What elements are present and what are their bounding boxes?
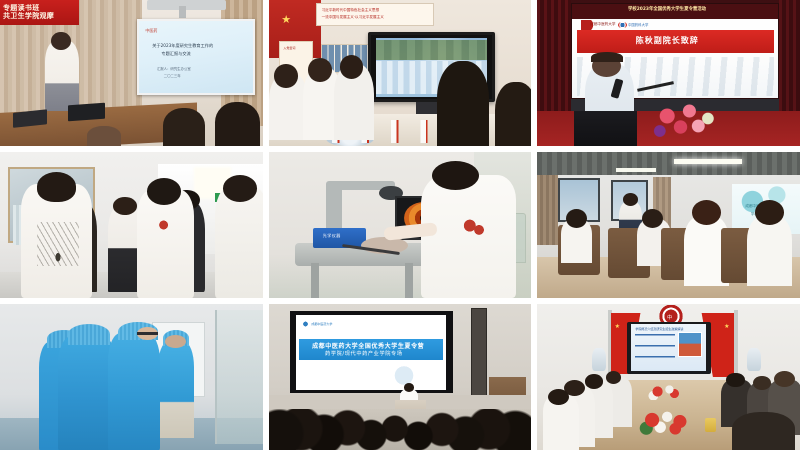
foreground-person-2 bbox=[495, 82, 532, 146]
logo-left-text: 成都中医药大学 bbox=[590, 22, 615, 27]
wall-text-board: 习近平新时代中国特色社会主义思想 一流中国与发展主义·以习近平发展主义 bbox=[316, 3, 434, 26]
led-header-text: 学校2023年全国优秀大学生夏令营活动 bbox=[628, 6, 706, 12]
emblem-text: 中 bbox=[667, 314, 672, 321]
logo-right-text: 中国药科大学 bbox=[628, 22, 648, 27]
floral-arrangement bbox=[645, 96, 719, 146]
operator-head bbox=[432, 161, 479, 190]
left-attendee-1-head bbox=[548, 389, 569, 405]
decorative-vase-left bbox=[592, 348, 605, 371]
gallery-photo-2[interactable]: 习近平新时代中国特色社会主义思想 一流中国与发展主义·以习近平发展主义 入党誓词 bbox=[269, 0, 532, 146]
red-banner: 专题读书班 共卫生学院观摩 bbox=[0, 0, 79, 25]
foreground-attendee bbox=[732, 412, 795, 450]
podium bbox=[574, 111, 637, 146]
slide-logo-text: 成都中医药大学 bbox=[311, 322, 332, 326]
projection-screen: 中医药 关于2023年度研究生教育工作的 专题汇报与交流 汇报人：研究生办公室 … bbox=[137, 19, 255, 95]
slide-title-band: 成都中医药大学全国优秀大学生夏令营 药学院/现代中药产业学院专场 bbox=[299, 339, 443, 360]
student-2-head bbox=[308, 58, 332, 81]
presenter-body bbox=[45, 41, 79, 111]
university-logo-right: 中国药科大学 bbox=[618, 20, 655, 30]
slide-bullet-lines bbox=[635, 334, 674, 365]
gallery-photo-5[interactable]: 光学仪器 bbox=[269, 152, 532, 298]
slide-watermark bbox=[386, 366, 422, 386]
speaker-head bbox=[404, 383, 415, 392]
student-3-head bbox=[340, 55, 364, 78]
operator-shirt-logo bbox=[453, 216, 495, 239]
gallery-photo-4[interactable] bbox=[0, 152, 263, 298]
led-header-bar: 学校2023年全国优秀大学生夏令营活动 bbox=[572, 4, 777, 19]
visitor-2-hair-cap bbox=[68, 324, 110, 344]
photo-lab-instrument-demo: 光学仪器 bbox=[269, 152, 532, 298]
instructor-body bbox=[158, 342, 195, 438]
audience-seating bbox=[269, 409, 532, 450]
visitor-3-glasses bbox=[137, 332, 158, 335]
gallery-photo-9[interactable]: 中 学院概况介绍及研究生招生政策解读 bbox=[537, 304, 800, 450]
slide-line-4: 二〇二三年 bbox=[164, 73, 181, 78]
projector-mount bbox=[147, 0, 226, 10]
photo-lab-corridor-tour bbox=[0, 152, 263, 298]
gallery-photo-7[interactable] bbox=[0, 304, 263, 450]
visitor-2-body bbox=[58, 336, 116, 450]
decorative-vase-right bbox=[747, 348, 760, 371]
presenter-head bbox=[51, 32, 71, 50]
student-center-body bbox=[137, 190, 195, 298]
attendee-4-head bbox=[755, 200, 784, 225]
student-foreground-head bbox=[37, 172, 76, 201]
presentation-display: 学院概况介绍及研究生招生政策解读 bbox=[627, 322, 711, 375]
instructor-face bbox=[165, 335, 186, 348]
glass-partition bbox=[215, 310, 262, 444]
student-foreground-shirt-print bbox=[37, 222, 79, 266]
ceiling-light-1 bbox=[674, 159, 742, 164]
student-right-head bbox=[223, 175, 257, 201]
curtain-left bbox=[537, 175, 558, 245]
right-attendee-1-head bbox=[726, 373, 744, 388]
floral-arrangement-front bbox=[637, 409, 695, 435]
photo-seminar-room-lecture: 成都中医药大学 学科建设与研究生 bbox=[537, 152, 800, 298]
ceiling-grid bbox=[537, 152, 800, 175]
slide-line-2: 专题汇报与交流 bbox=[161, 51, 190, 57]
display-slide: 学院概况介绍及研究生招生政策解读 bbox=[631, 324, 707, 371]
instrument-label: 光学仪器 bbox=[323, 233, 341, 239]
wall-text-line-2: 一流中国与发展主义·以习近平发展主义 bbox=[322, 15, 384, 20]
attendee-1-head bbox=[566, 209, 587, 228]
guide-head bbox=[113, 197, 137, 215]
slide-photo-thumbnail bbox=[678, 332, 702, 358]
audience-foreground-1 bbox=[163, 108, 205, 146]
slide-line-3: 汇报人：研究生办公室 bbox=[157, 66, 191, 71]
slide-line-1: 成都中医药大学全国优秀大学生夏令营 bbox=[312, 341, 424, 350]
photo-opening-address: 学校2023年全国优秀大学生夏令营活动 成都中医药大学 中国药科大学 陈秋副院长… bbox=[537, 0, 800, 146]
right-attendee-3-head bbox=[774, 371, 795, 387]
student-right-body bbox=[215, 187, 262, 298]
ceiling-light-2 bbox=[616, 168, 655, 172]
bench-leg-left bbox=[311, 263, 319, 298]
slide-line-2: 药学院/现代中药产业学院专场 bbox=[325, 350, 403, 357]
audience-foreground-2 bbox=[215, 102, 260, 146]
student-1-head bbox=[274, 64, 298, 87]
photo-seminar-presentation: 专题读书班 共卫生学院观摩 中医药 关于2023年度研究生教育工作的 专题汇报与… bbox=[0, 0, 263, 146]
oath-panel-title: 入党誓词 bbox=[283, 46, 295, 50]
photo-gallery-grid: 专题读书班 共卫生学院观摩 中医药 关于2023年度研究生教育工作的 专题汇报与… bbox=[0, 0, 800, 450]
wall-text-line-1: 习近平新时代中国特色社会主义思想 bbox=[322, 8, 380, 13]
gallery-photo-6[interactable]: 成都中医药大学 学科建设与研究生 bbox=[537, 152, 800, 298]
laptop-right bbox=[68, 102, 105, 121]
screen-title: 学院概况介绍及研究生招生政策解读 bbox=[635, 327, 683, 331]
audience-back-1 bbox=[87, 126, 121, 146]
led-title-bar: 陈秋副院长致辞 bbox=[577, 30, 774, 53]
floral-arrangement-back bbox=[645, 383, 687, 401]
photo-video-viewing: 习近平新时代中国特色社会主义思想 一流中国与发展主义·以习近平发展主义 入党誓词 bbox=[269, 0, 532, 146]
bench-leg-right bbox=[405, 263, 413, 298]
attendee-4-body bbox=[747, 216, 792, 286]
projected-slide: 成都中医药大学 成都中医药大学全国优秀大学生夏令营 药学院/现代中药产业学院专场 bbox=[296, 315, 446, 390]
slide-title: 中医药 bbox=[145, 28, 157, 34]
slide-line-1: 关于2023年度研究生教育工作的 bbox=[152, 43, 213, 49]
tv-image-background bbox=[376, 40, 486, 60]
flag-pole-right bbox=[734, 310, 738, 380]
foreground-person-1 bbox=[437, 61, 490, 146]
photo-roundtable-meeting: 中 学院概况介绍及研究生招生政策解读 bbox=[537, 304, 800, 450]
visitor-3-body bbox=[108, 333, 161, 450]
photo-cleanroom-visit bbox=[0, 304, 263, 450]
university-logo: 成都中医药大学 bbox=[302, 318, 335, 330]
student-center-head bbox=[147, 178, 181, 204]
gallery-photo-3[interactable]: 学校2023年全国优秀大学生夏令营活动 成都中医药大学 中国药科大学 陈秋副院长… bbox=[537, 0, 800, 146]
banner-line-2: 共卫生学院观摩 bbox=[3, 12, 79, 20]
led-main-text: 陈秋副院长致辞 bbox=[636, 35, 699, 46]
photo-auditorium-session: 成都中医药大学 成都中医药大学全国优秀大学生夏令营 药学院/现代中药产业学院专场 bbox=[269, 304, 532, 450]
gallery-photo-1[interactable]: 专题读书班 共卫生学院观摩 中医药 关于2023年度研究生教育工作的 专题汇报与… bbox=[0, 0, 263, 146]
gallery-photo-8[interactable]: 成都中医药大学 成都中医药大学全国优秀大学生夏令营 药学院/现代中药产业学院专场 bbox=[269, 304, 532, 450]
student-center-shirt-logo bbox=[152, 219, 181, 234]
wall-pillar bbox=[471, 308, 487, 399]
beverage-cup bbox=[705, 418, 716, 433]
banner-line-1: 专题读书班 bbox=[3, 4, 79, 12]
projection-screen-frame: 成都中医药大学 成都中医药大学全国优秀大学生夏令营 药学院/现代中药产业学院专场 bbox=[290, 311, 453, 393]
attendee-3-head bbox=[692, 200, 721, 225]
university-logo-left: 成都中医药大学 bbox=[581, 20, 608, 30]
